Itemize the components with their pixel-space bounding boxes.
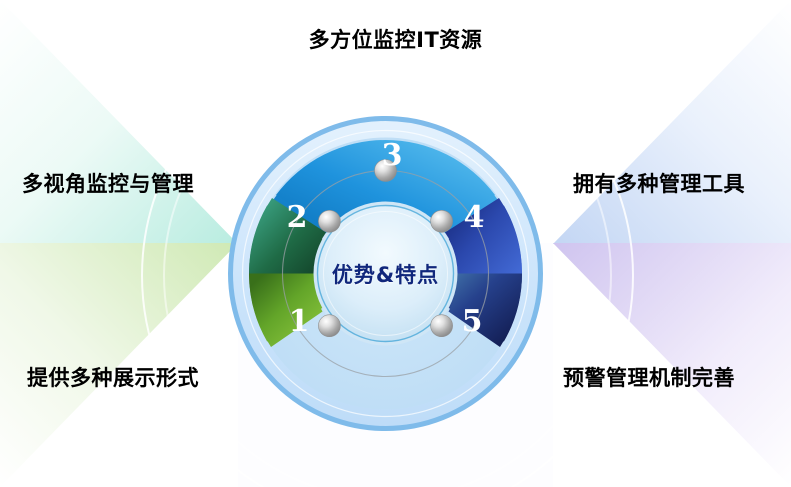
label-left-lower: 提供多种展示形式 <box>27 362 199 392</box>
segment-number-1: 1 <box>289 304 310 339</box>
segment-marker-4 <box>431 210 453 232</box>
radial-wheel: 1 2 3 4 5 优势&特点 <box>227 115 544 432</box>
label-left-upper: 多视角监控与管理 <box>22 168 194 198</box>
segment-number-4: 4 <box>464 200 485 235</box>
segment-marker-2 <box>318 210 340 232</box>
label-right-lower: 预警管理机制完善 <box>563 362 735 392</box>
label-right-upper: 拥有多种管理工具 <box>573 168 745 198</box>
segment-number-3: 3 <box>382 138 403 173</box>
infographic-canvas: 1 2 3 4 5 优势&特点 多方位监控IT资源 多视角监控与管理 提供多种展… <box>0 0 791 487</box>
segment-marker-5 <box>431 315 453 337</box>
segment-number-2: 2 <box>287 200 308 235</box>
segment-number-5: 5 <box>462 304 483 339</box>
segment-marker-1 <box>318 315 340 337</box>
label-top: 多方位监控IT资源 <box>0 24 791 54</box>
